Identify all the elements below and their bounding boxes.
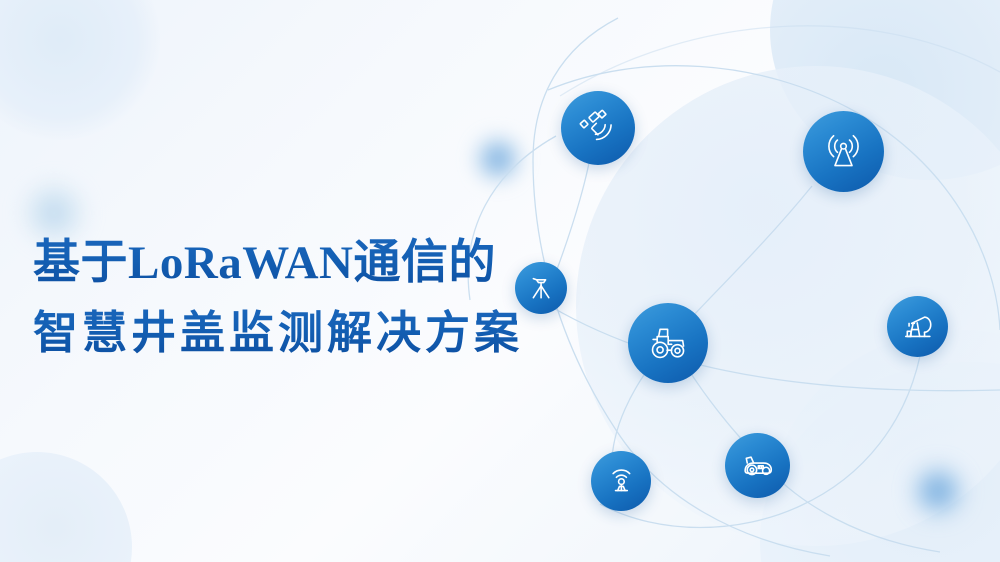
survey-tripod-icon — [526, 273, 556, 303]
node-wireless-sensor[interactable] — [591, 451, 651, 511]
node-oil-pumpjack[interactable] — [887, 296, 948, 357]
page-title: 基于LoRaWAN通信的 智慧井盖监测解决方案 — [33, 228, 523, 368]
wireless-sensor-icon — [604, 464, 639, 499]
node-radio-tower[interactable] — [803, 111, 884, 192]
satellite-icon — [577, 107, 620, 150]
node-satellite[interactable] — [561, 91, 635, 165]
title-line-2: 智慧井盖监测解决方案 — [33, 299, 523, 367]
radio-tower-icon — [820, 128, 867, 175]
title-slide: 基于LoRaWAN通信的 智慧井盖监测解决方案 — [0, 0, 1000, 562]
orbit-path-9 — [560, 26, 1000, 96]
robot-mower-icon — [739, 447, 777, 485]
node-tractor[interactable] — [628, 303, 708, 383]
title-line-1: 基于LoRaWAN通信的 — [33, 228, 523, 299]
oil-pumpjack-icon — [900, 309, 935, 344]
tractor-icon — [645, 320, 691, 366]
node-robot-mower[interactable] — [725, 433, 790, 498]
orbit-path-7 — [556, 146, 592, 272]
